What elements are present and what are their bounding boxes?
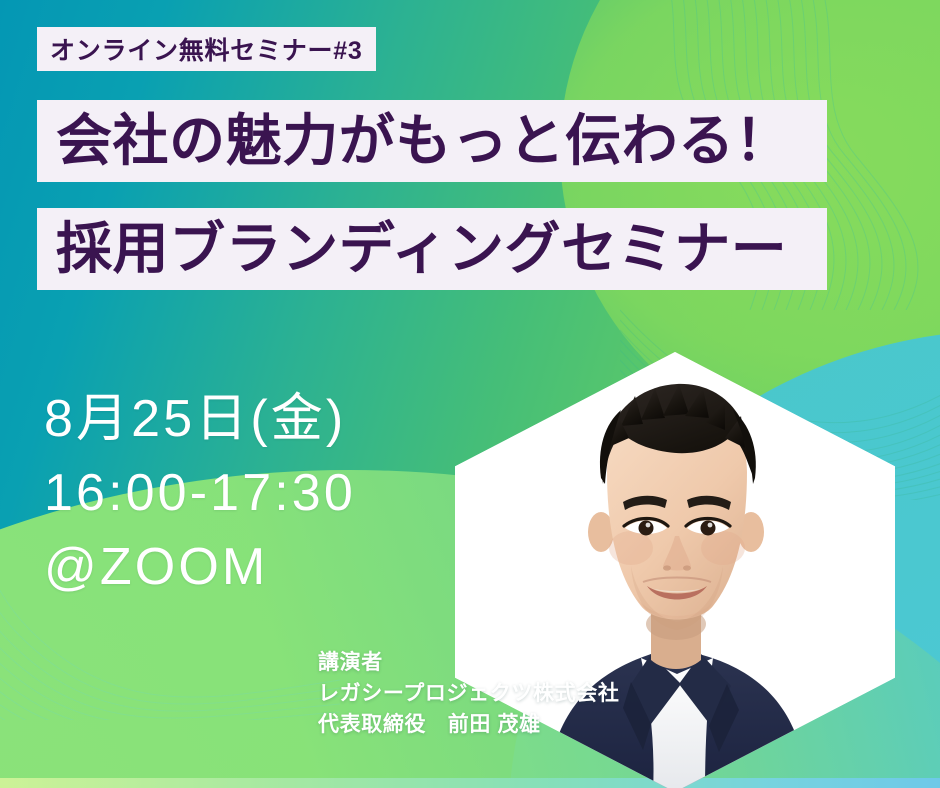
schedule-block: 8月25日(金) 16:00-17:30 @ZOOM [44,383,356,604]
schedule-venue: @ZOOM [44,531,356,605]
schedule-time: 16:00-17:30 [44,457,356,531]
speaker-title-name: 代表取締役 前田 茂雄 [318,710,620,741]
speaker-heading: 講演者 [318,648,620,679]
schedule-date: 8月25日(金) [44,383,356,457]
title-line-2-text: 採用ブランディングセミナー [37,221,787,277]
title-line-1-box: 会社の魅力がもっと伝わる！ [37,100,827,182]
seminar-poster: オンライン無料セミナー#3 会社の魅力がもっと伝わる！ 採用ブランディングセミナ… [0,0,940,788]
title-line-1-text: 会社の魅力がもっと伝わる！ [37,113,791,169]
speaker-info: 講演者 レガシープロジェクツ株式会社 代表取締役 前田 茂雄 [318,648,620,741]
title-line-2-box: 採用ブランディングセミナー [37,208,827,290]
speaker-company: レガシープロジェクツ株式会社 [318,679,620,710]
badge-label: オンライン無料セミナー#3 [50,31,363,67]
seminar-badge: オンライン無料セミナー#3 [37,27,376,71]
